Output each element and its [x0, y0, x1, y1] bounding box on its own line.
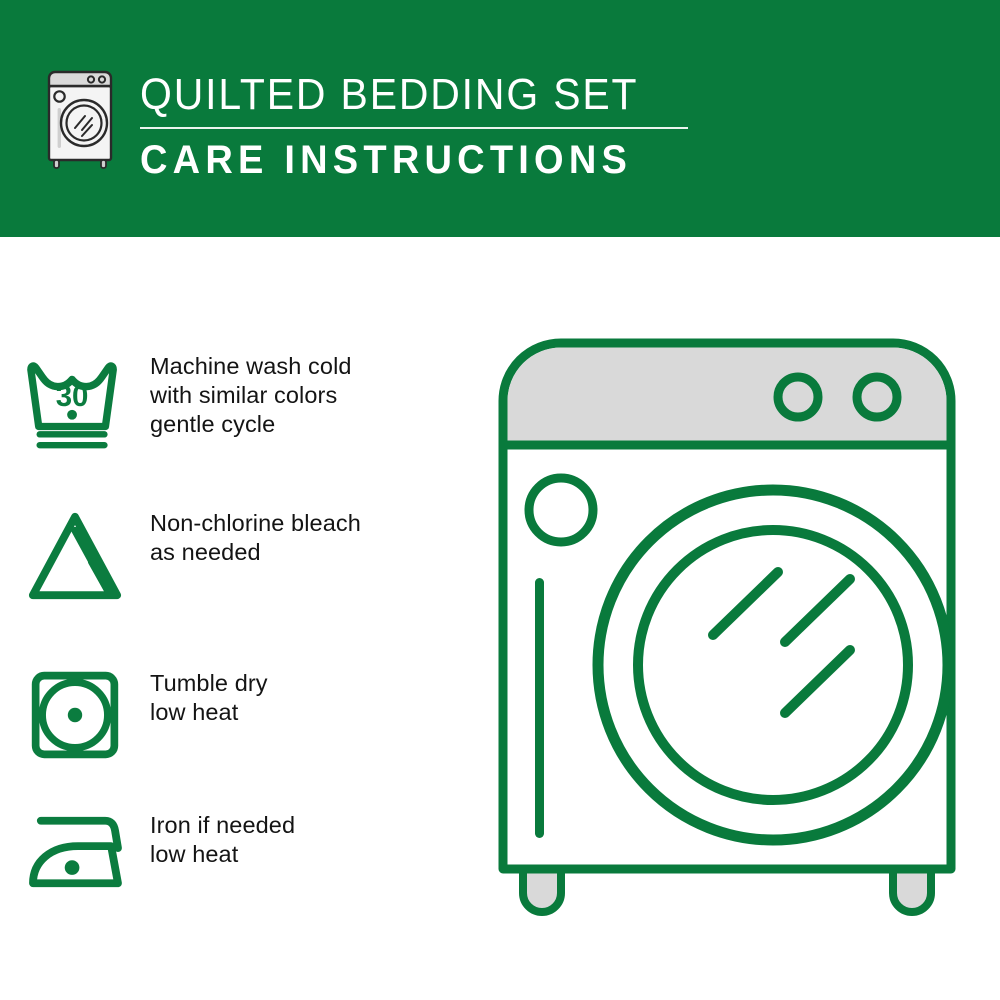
instructions-list: 30 Machine wash cold with similar colors…: [0, 237, 470, 1000]
page-title: QUILTED BEDDING SET: [140, 70, 661, 120]
instruction-row-wash: 30 Machine wash cold with similar colors…: [0, 350, 470, 452]
non-chlorine-bleach-triangle-icon: [0, 507, 150, 605]
washing-machine-illustration: [495, 335, 970, 935]
wash-temperature-label: 30: [56, 380, 89, 413]
header-text-block: QUILTED BEDDING SET CARE INSTRUCTIONS: [140, 70, 700, 183]
header-banner: QUILTED BEDDING SET CARE INSTRUCTIONS: [0, 0, 1000, 237]
tumble-dry-low-heat-icon: [0, 667, 150, 763]
machine-control-panel: [508, 348, 947, 446]
page-subtitle: CARE INSTRUCTIONS: [140, 137, 672, 183]
instruction-row-bleach: Non-chlorine bleach as needed: [0, 507, 470, 605]
instruction-row-dry: Tumble dry low heat: [0, 667, 470, 763]
washing-machine-logo-icon: [44, 68, 124, 172]
instruction-row-iron: Iron if needed low heat: [0, 809, 470, 893]
instruction-text-iron: Iron if needed low heat: [150, 809, 470, 869]
wash-tub-30-gentle-icon: 30: [0, 350, 150, 452]
care-instructions-page: QUILTED BEDDING SET CARE INSTRUCTIONS 30: [0, 0, 1000, 1000]
iron-low-heat-icon: [0, 809, 150, 893]
instruction-text-wash: Machine wash cold with similar colors ge…: [150, 350, 470, 439]
instruction-text-bleach: Non-chlorine bleach as needed: [150, 507, 470, 567]
title-divider: [140, 127, 688, 129]
machine-vertical-bar: [535, 578, 544, 838]
instruction-text-dry: Tumble dry low heat: [150, 667, 470, 727]
